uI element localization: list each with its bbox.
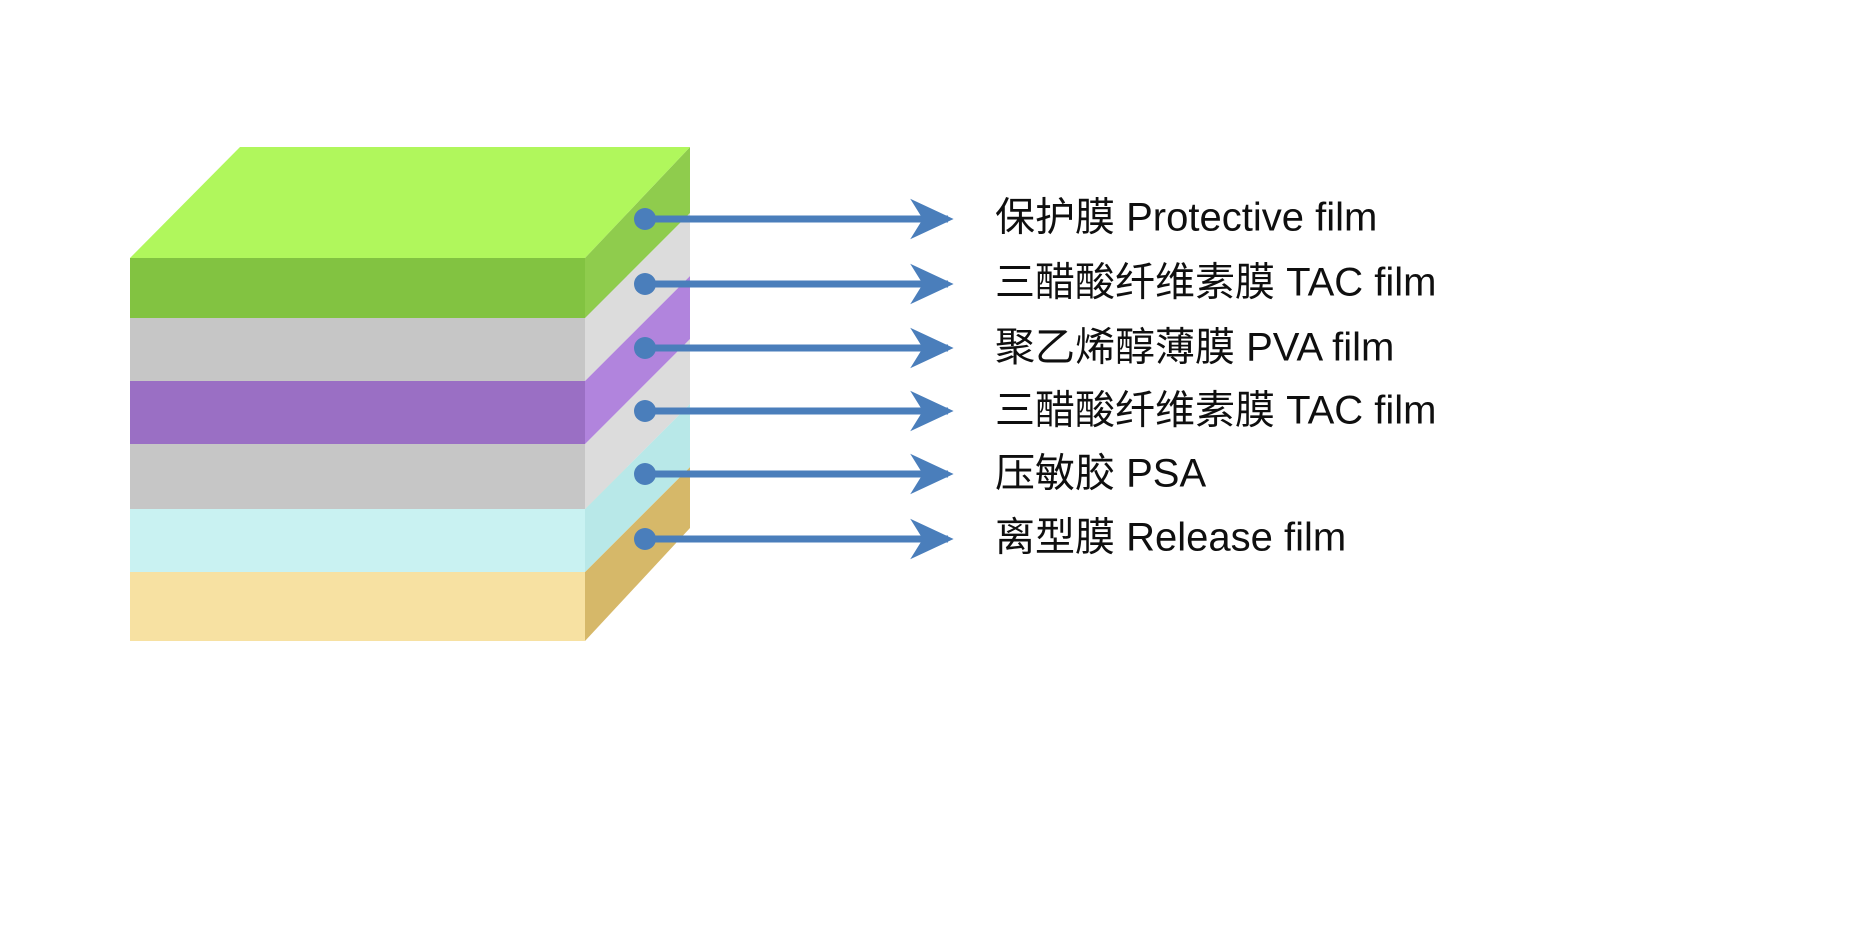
layer-front-tac-film-upper — [130, 318, 585, 381]
layer-labels: 保护膜 Protective film 三醋酸纤维素膜 TAC film 聚乙烯… — [995, 196, 1436, 560]
diagram-canvas: 保护膜 Protective film 三醋酸纤维素膜 TAC film 聚乙烯… — [0, 0, 1876, 948]
layer-front-pva-film — [130, 381, 585, 444]
layer-stack-diagram: 保护膜 Protective film 三醋酸纤维素膜 TAC film 聚乙烯… — [0, 0, 1876, 948]
layer-front-tac-film-lower — [130, 444, 585, 509]
layer-label-pva-film: 聚乙烯醇薄膜 PVA film — [995, 326, 1394, 370]
layer-front-protective-film — [130, 258, 585, 318]
film-stack-3d — [130, 147, 690, 641]
layer-label-tac-film-lower: 三醋酸纤维素膜 TAC film — [995, 389, 1436, 433]
layer-label-psa: 压敏胶 PSA — [995, 452, 1206, 496]
layer-label-protective-film: 保护膜 Protective film — [995, 196, 1377, 240]
layer-front-release-film — [130, 572, 585, 641]
layer-block-protective-film — [130, 147, 690, 318]
layer-label-tac-film-upper: 三醋酸纤维素膜 TAC film — [995, 261, 1436, 305]
layer-label-release-film: 离型膜 Release film — [995, 516, 1346, 560]
layer-front-psa — [130, 509, 585, 572]
